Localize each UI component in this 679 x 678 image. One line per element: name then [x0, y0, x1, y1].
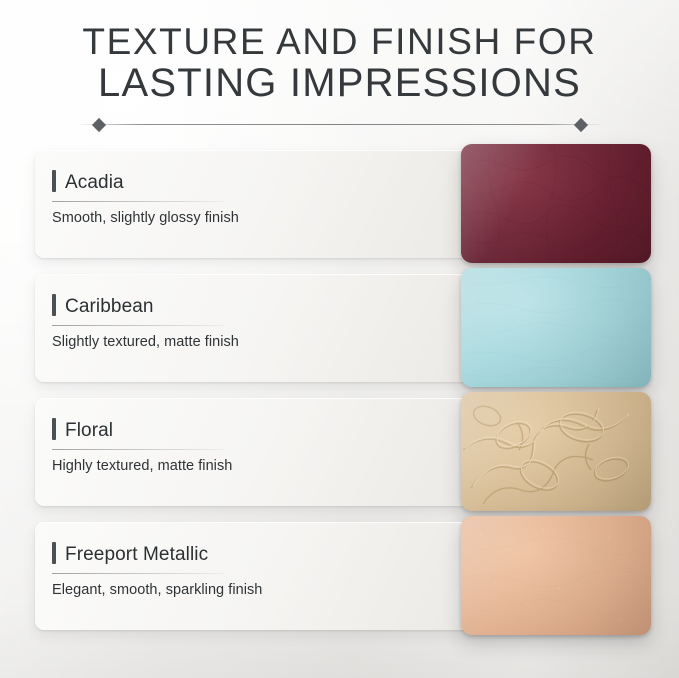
accent-bar-icon — [52, 294, 56, 316]
floral-title: Floral — [65, 420, 113, 442]
floral-card-text: Floral Highly textured, matte finish — [52, 418, 414, 474]
acadia-card-text: Acadia Smooth, slightly glossy finish — [52, 170, 414, 226]
caribbean-description: Slightly textured, matte finish — [52, 334, 414, 350]
acadia-swatch — [461, 144, 651, 263]
list-item: Freeport Metallic Elegant, smooth, spark… — [0, 516, 679, 636]
divider-rule — [76, 124, 604, 125]
floral-description: Highly textured, matte finish — [52, 458, 414, 474]
finish-list: Acadia Smooth, slightly glossy finish — [0, 138, 679, 636]
title-line-2: LASTING IMPRESSIONS — [18, 62, 661, 105]
caribbean-swatch — [461, 268, 651, 387]
infographic-page: TEXTURE AND FINISH FOR LASTING IMPRESSIO… — [0, 0, 679, 678]
title-underline — [52, 449, 224, 450]
title-underline — [52, 573, 224, 574]
page-title: TEXTURE AND FINISH FOR LASTING IMPRESSIO… — [0, 0, 679, 104]
freeport-metallic-title: Freeport Metallic — [65, 544, 208, 566]
title-underline — [52, 201, 224, 202]
accent-bar-icon — [52, 418, 56, 440]
title-underline — [52, 325, 224, 326]
accent-bar-icon — [52, 170, 56, 192]
swatch-sheen — [461, 516, 651, 635]
caribbean-card-text: Caribbean Slightly textured, matte finis… — [52, 294, 414, 350]
acadia-description: Smooth, slightly glossy finish — [52, 210, 414, 226]
caribbean-title: Caribbean — [65, 296, 154, 318]
diamond-icon-left — [91, 118, 105, 132]
acadia-title: Acadia — [65, 172, 124, 194]
title-line-1: TEXTURE AND FINISH FOR — [18, 22, 661, 62]
list-item: Floral Highly textured, matte finish — [0, 392, 679, 512]
floral-swatch — [461, 392, 651, 511]
list-item: Acadia Smooth, slightly glossy finish — [0, 144, 679, 264]
accent-bar-icon — [52, 542, 56, 564]
divider — [76, 116, 604, 132]
swatch-sheen — [461, 144, 651, 263]
swatch-sheen — [461, 268, 651, 387]
swatch-sheen — [461, 392, 651, 511]
freeport-metallic-description: Elegant, smooth, sparkling finish — [52, 582, 414, 598]
diamond-icon-right — [573, 118, 587, 132]
freeport-metallic-card-text: Freeport Metallic Elegant, smooth, spark… — [52, 542, 414, 598]
list-item: Caribbean Slightly textured, matte finis… — [0, 268, 679, 388]
freeport-metallic-swatch — [461, 516, 651, 635]
